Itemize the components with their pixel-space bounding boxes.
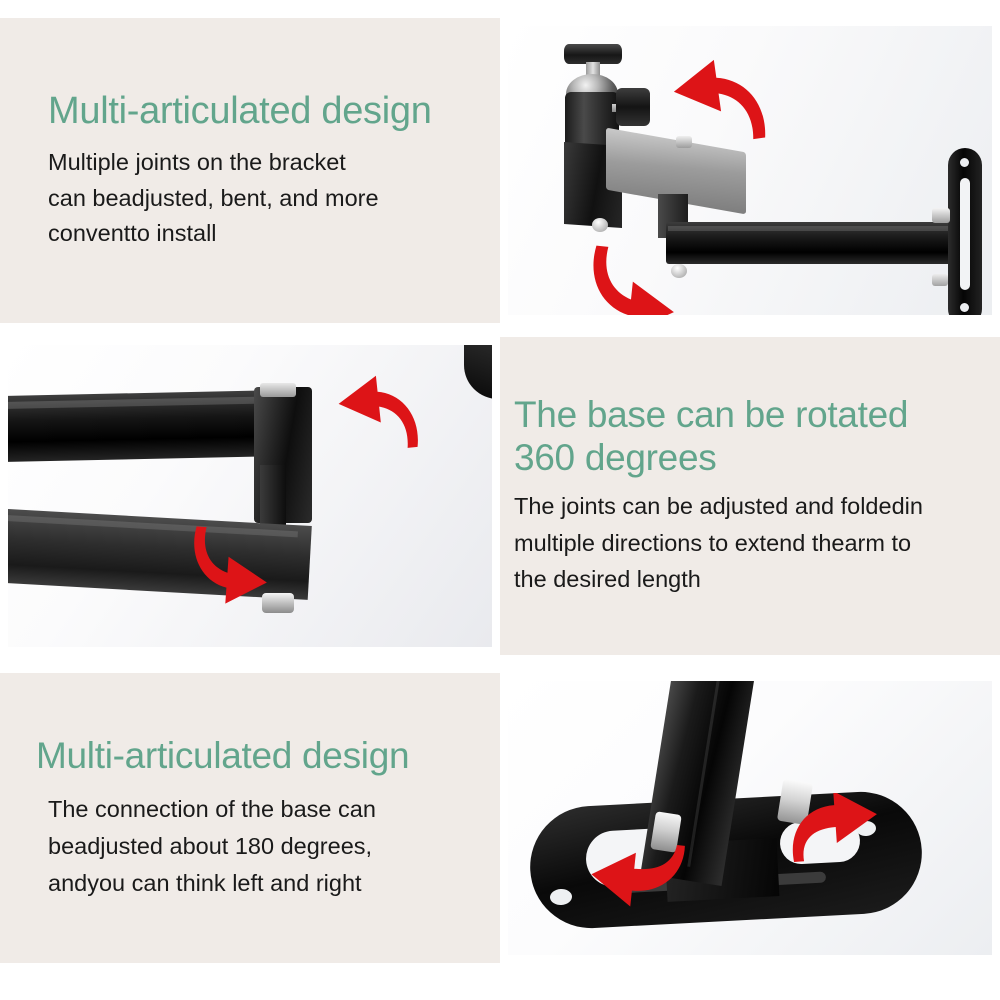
panel-1-body-text: Multiple joints on the bracket can beadj… xyxy=(48,145,482,252)
panel-1-text-column: Multi-articulated design Multiple joints… xyxy=(0,18,500,323)
rotation-arrow-lower-icon xyxy=(186,523,278,607)
rotation-arrow-lower-left-icon xyxy=(584,242,688,315)
wall-mount-bracket-photo xyxy=(508,26,992,315)
panel-3-text-column: Multi-articulated design The connection … xyxy=(0,673,500,963)
wall-plate-slot xyxy=(960,178,970,290)
wall-plate-bolt-bottom xyxy=(932,274,948,286)
wall-plate-hole-top xyxy=(960,158,969,167)
panel-1-heading: Multi-articulated design xyxy=(48,89,482,133)
rotation-arrow-upper-left-icon xyxy=(664,56,768,152)
oval-base-plate-photo xyxy=(508,681,992,955)
infographic-sheet: Multi-articulated design Multiple joints… xyxy=(0,0,1000,1000)
panel-2-heading: The base can be rotated 360 degrees xyxy=(514,394,986,480)
thumbscrew-knob xyxy=(616,88,650,126)
joint-cap-screw xyxy=(260,383,296,397)
panel-2-photo-column xyxy=(0,337,500,655)
rotation-arrow-left-icon xyxy=(584,831,690,911)
rotation-arrow-right-icon xyxy=(786,793,886,871)
panel-2-text-column: The base can be rotated 360 degrees The … xyxy=(500,337,1000,655)
wall-plate-bolt-top xyxy=(932,208,950,223)
wall-plate-hole-bottom xyxy=(960,303,969,312)
joint-post xyxy=(260,465,286,527)
feature-panel-multi-articulated-bottom: Multi-articulated design The connection … xyxy=(0,673,1000,963)
ball-head-top-disc xyxy=(564,44,622,64)
panel-3-photo-column xyxy=(500,673,1000,963)
panel-3-body-text: The connection of the base can beadjuste… xyxy=(36,791,482,901)
panel-2-body-text: The joints can be adjusted and foldedin … xyxy=(514,488,986,598)
articulated-arms-closeup-photo xyxy=(8,345,492,647)
panel-1-photo-column xyxy=(500,18,1000,323)
block-screw-bottom xyxy=(592,218,608,232)
rotation-arrow-upper-icon xyxy=(330,373,422,457)
panel-3-heading: Multi-articulated design xyxy=(36,735,482,778)
arm-highlight xyxy=(668,226,962,231)
feature-panel-multi-articulated-top: Multi-articulated design Multiple joints… xyxy=(0,18,1000,323)
feature-panel-base-rotated-360: The base can be rotated 360 degrees The … xyxy=(0,337,1000,655)
